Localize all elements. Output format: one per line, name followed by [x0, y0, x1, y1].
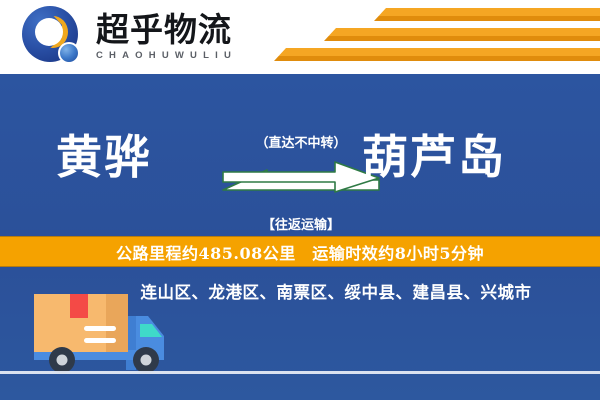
banner-header: 超乎物流 CHAOHUWULIU [0, 0, 600, 74]
stripe-2 [324, 28, 600, 41]
brand-name-block: 超乎物流 CHAOHUWULIU [96, 13, 237, 62]
districts-text: 连山区、龙港区、南票区、绥中县、建昌县、兴城市 [141, 283, 532, 302]
destination-city: 葫芦岛 [362, 134, 506, 180]
brand-logo: 超乎物流 CHAOHUWULIU [22, 6, 237, 68]
logistics-route-banner: 超乎物流 CHAOHUWULIU 黄骅 （直达不中转） 【往返运输】 葫芦岛 [0, 0, 600, 400]
route-row: 黄骅 （直达不中转） 【往返运输】 葫芦岛 [0, 96, 600, 236]
brand-name-cn: 超乎物流 [96, 13, 237, 48]
route-arrow-block: （直达不中转） 【往返运输】 [236, 132, 366, 236]
main-panel: 黄骅 （直达不中转） 【往返运输】 葫芦岛 公路里程约485.08公里 运输时效… [0, 74, 600, 400]
decorative-stripes [270, 8, 600, 68]
logo-dot-shape [58, 42, 80, 64]
roundtrip-label: 【往返运输】 [236, 214, 366, 233]
direct-label: （直达不中转） [236, 132, 366, 151]
delivery-truck-icon [18, 280, 178, 376]
stripe-1 [374, 8, 600, 21]
chaohu-circle-logo-icon [22, 6, 86, 68]
double-headed-arrow-icon [221, 158, 381, 204]
brand-name-en: CHAOHUWULIU [96, 50, 237, 61]
distance-duration-text: 公路里程约485.08公里 运输时效约8小时5分钟 [116, 240, 484, 264]
distance-duration-bar: 公路里程约485.08公里 运输时效约8小时5分钟 [0, 236, 600, 267]
origin-city: 黄骅 [56, 134, 152, 180]
stripe-3 [274, 48, 600, 61]
logo-inner-circle-shape [35, 18, 63, 46]
road-line-icon [0, 371, 600, 374]
